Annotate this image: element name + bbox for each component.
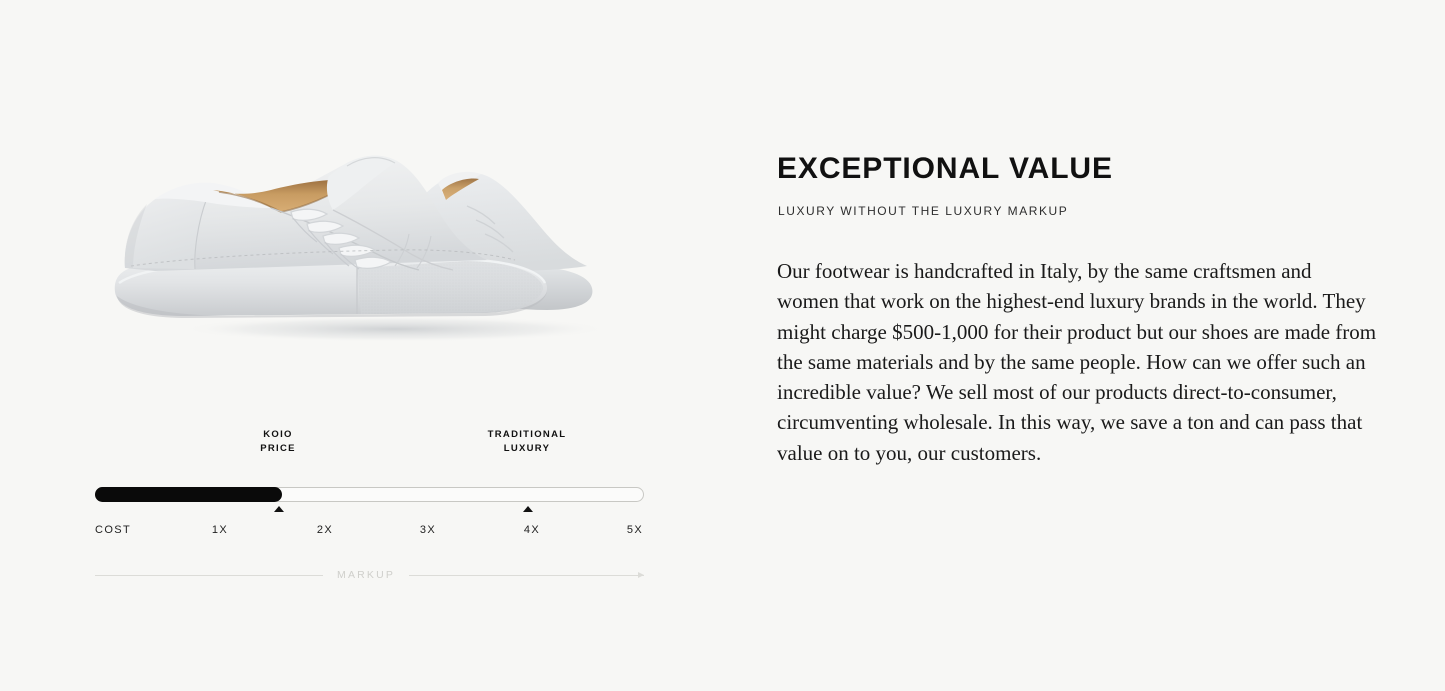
tick-cost: COST: [95, 524, 131, 536]
chart-tick-labels: COST 1X 2X 3X 4X 5X: [95, 524, 644, 542]
page-subtitle: LUXURY WITHOUT THE LUXURY MARKUP: [778, 204, 1068, 218]
tick-3x: 3X: [420, 524, 436, 536]
chart-marker-labels: KOIO PRICE TRADITIONAL LUXURY: [95, 428, 644, 468]
marker-label-traditional-line1: TRADITIONAL: [488, 428, 567, 442]
marker-label-traditional: TRADITIONAL LUXURY: [488, 428, 567, 456]
marker-label-koio-line2: PRICE: [260, 442, 296, 456]
marker-label-traditional-line2: LUXURY: [488, 442, 567, 456]
marker-triangle-koio: [274, 506, 284, 512]
tick-1x: 1X: [212, 524, 228, 536]
markup-track: [95, 487, 644, 502]
marker-label-koio: KOIO PRICE: [260, 428, 296, 456]
exceptional-value-section: KOIO PRICE TRADITIONAL LUXURY COST 1X 2X…: [0, 0, 1445, 691]
markup-axis: MARKUP: [95, 568, 644, 582]
markup-chart: KOIO PRICE TRADITIONAL LUXURY COST 1X 2X…: [95, 428, 644, 588]
copy-column: EXCEPTIONAL VALUE LUXURY WITHOUT THE LUX…: [777, 0, 1377, 691]
markup-track-fill-koio: [95, 487, 282, 502]
product-media-column: KOIO PRICE TRADITIONAL LUXURY COST 1X 2X…: [0, 0, 723, 691]
tick-4x: 4X: [524, 524, 540, 536]
marker-label-koio-line1: KOIO: [260, 428, 296, 442]
marker-triangle-traditional: [523, 506, 533, 512]
page-title: EXCEPTIONAL VALUE: [777, 152, 1113, 186]
body-paragraph: Our footwear is handcrafted in Italy, by…: [777, 256, 1377, 468]
markup-axis-line-left: [95, 575, 323, 576]
product-image-sneakers: [95, 120, 645, 360]
tick-5x: 5X: [627, 524, 643, 536]
tick-2x: 2X: [317, 524, 333, 536]
markup-axis-line-right-arrow: [409, 575, 644, 576]
markup-axis-label: MARKUP: [323, 569, 409, 581]
